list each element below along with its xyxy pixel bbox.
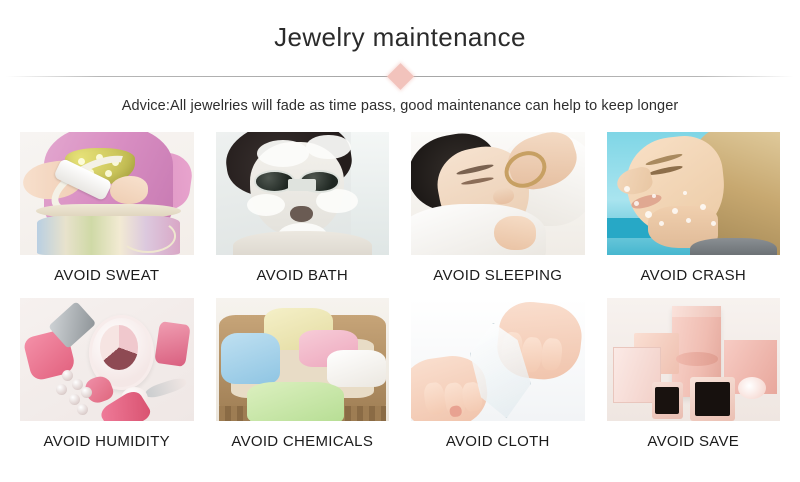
page-title: Jewelry maintenance [0, 0, 800, 53]
pink-cosmetics-flatlay-photo [20, 298, 194, 421]
tip-card-avoid-chemicals[interactable]: AVOID CHEMICALS [216, 298, 390, 460]
section-divider [0, 65, 800, 87]
tip-card-avoid-save[interactable]: AVOID SAVE [607, 298, 781, 460]
tip-label: AVOID CLOTH [446, 421, 550, 460]
tip-label: AVOID CHEMICALS [231, 421, 373, 460]
advice-text: Advice:All jewelries will fade as time p… [0, 87, 800, 114]
tip-label: AVOID SLEEPING [433, 255, 562, 294]
tip-label: AVOID HUMIDITY [44, 421, 170, 460]
tip-card-avoid-sweat[interactable]: AVOID SWEAT [20, 132, 194, 294]
tip-label: AVOID CRASH [640, 255, 746, 294]
diamond-divider-icon [387, 63, 414, 90]
maintenance-tips-grid: AVOID SWEAT AVOID BATH [0, 114, 800, 460]
tip-card-avoid-cloth[interactable]: AVOID CLOTH [411, 298, 585, 460]
woman-holding-green-polka-dot-bag-photo [20, 132, 194, 255]
pink-jewelry-gift-boxes-photo [607, 298, 781, 421]
pastel-towels-in-basket-photo [216, 298, 390, 421]
tip-card-avoid-humidity[interactable]: AVOID HUMIDITY [20, 298, 194, 460]
woman-splashing-water-on-face-photo [607, 132, 781, 255]
tip-label: AVOID BATH [256, 255, 348, 294]
woman-sleeping-on-white-pillow-photo [411, 132, 585, 255]
tip-label: AVOID SAVE [647, 421, 739, 460]
hands-holding-clear-film-photo [411, 298, 585, 421]
tip-card-avoid-sleeping[interactable]: AVOID SLEEPING [411, 132, 585, 294]
tip-card-avoid-bath[interactable]: AVOID BATH [216, 132, 390, 294]
tip-label: AVOID SWEAT [54, 255, 159, 294]
tip-card-avoid-crash[interactable]: AVOID CRASH [607, 132, 781, 294]
woman-with-face-foam-and-sunglasses-photo [216, 132, 390, 255]
